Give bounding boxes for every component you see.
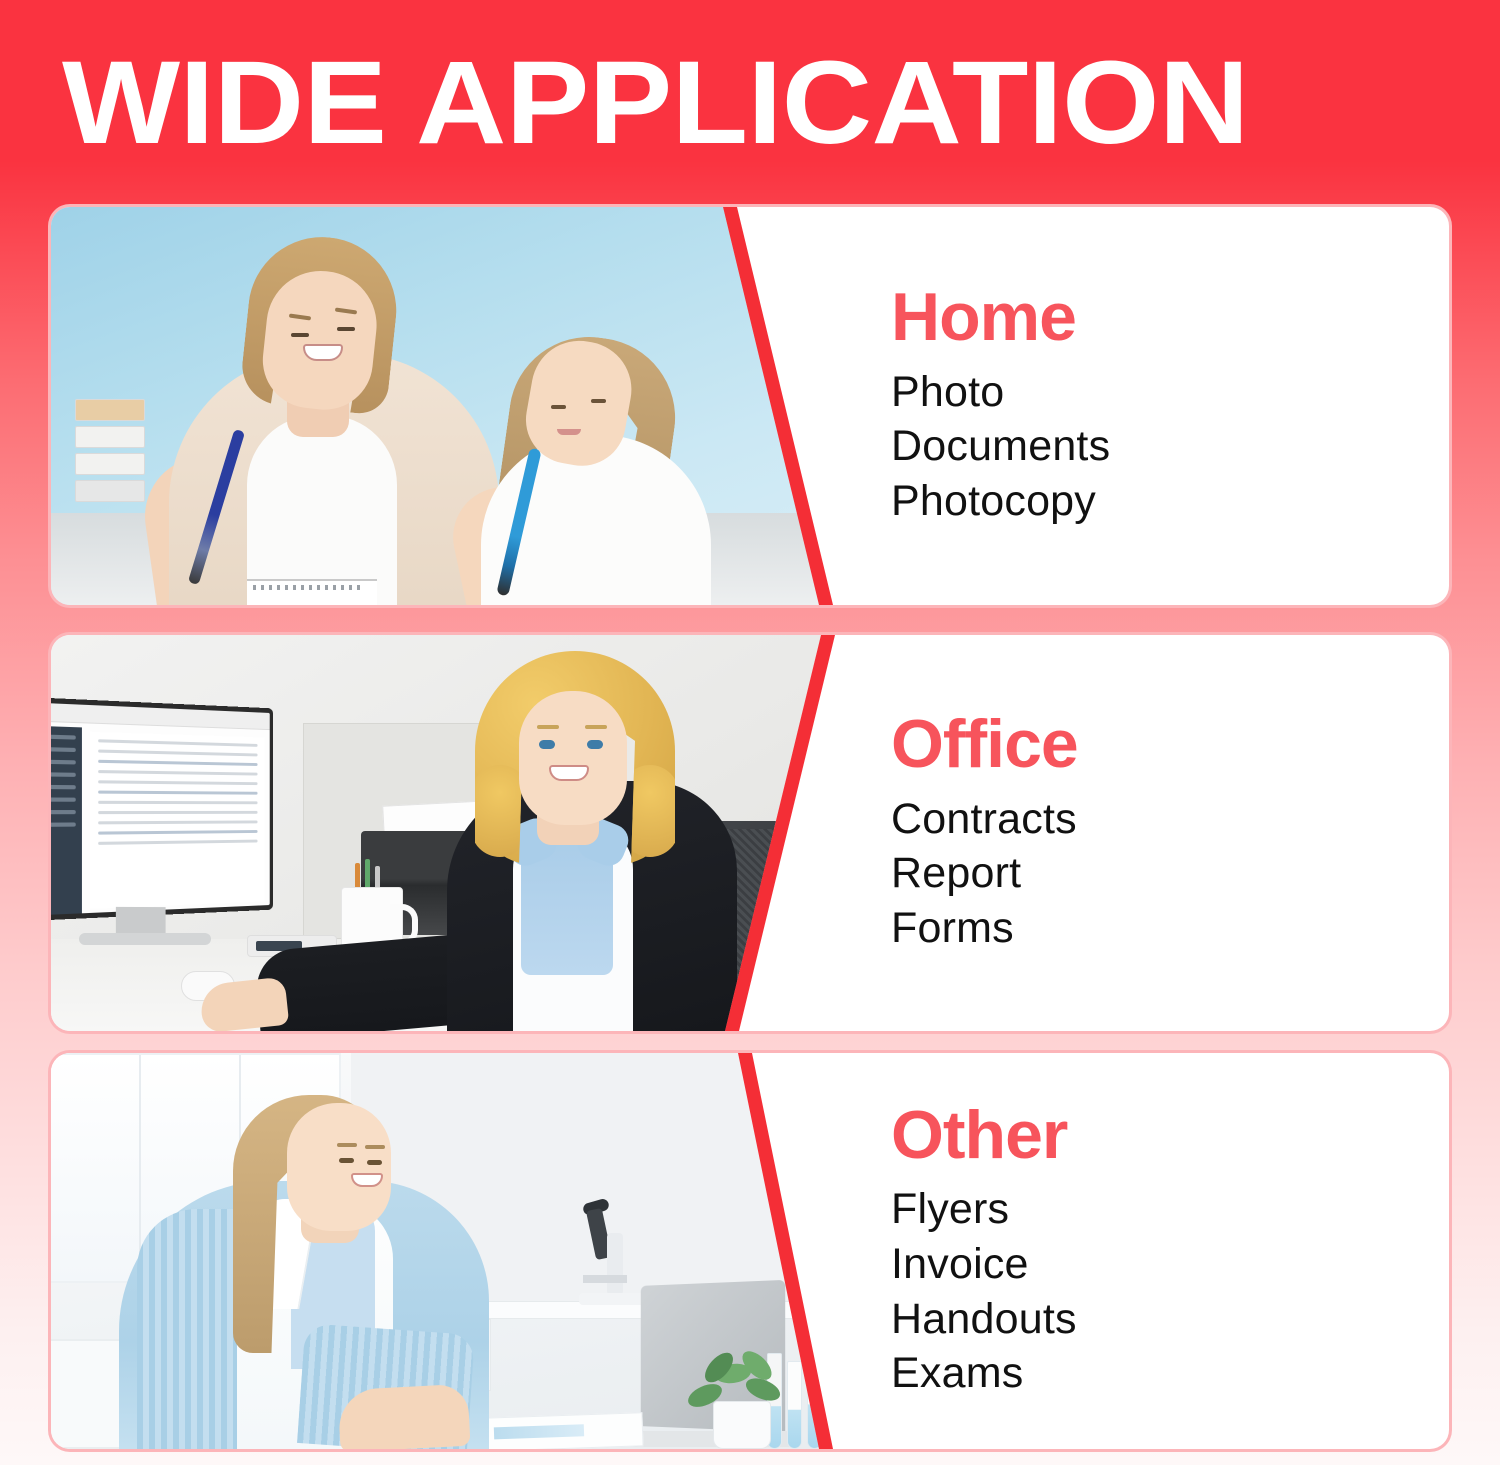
- lab-brow-right: [365, 1145, 385, 1149]
- page-title: WIDE APPLICATION: [62, 44, 1249, 162]
- card-list-office: Contracts Report Forms: [891, 792, 1449, 956]
- card-photo-home: [51, 207, 841, 605]
- card-photo-other: [51, 1053, 841, 1449]
- card-heading-other: Other: [891, 1101, 1449, 1170]
- card-text-other: Other Flyers Invoice Handouts Exams: [839, 1053, 1449, 1449]
- adult-shirt: [247, 415, 397, 605]
- office-brow-left: [537, 725, 559, 729]
- office-brow-right: [585, 725, 607, 729]
- list-item: Contracts: [891, 792, 1449, 847]
- photo-office-worker: [51, 635, 841, 1031]
- office-woman-bow-tie: [521, 827, 613, 975]
- office-eye-right: [587, 740, 603, 749]
- lab-woman-clasped-hands: [337, 1384, 470, 1449]
- photo-lab-worker: [51, 1053, 841, 1449]
- card-text-home: Home Photo Documents Photocopy: [839, 207, 1449, 605]
- child-eye-left: [551, 405, 566, 409]
- page-header: WIDE APPLICATION: [0, 0, 1500, 200]
- card-heading-office: Office: [891, 710, 1449, 779]
- lab-cardigan-ribbing-left: [137, 1209, 247, 1449]
- monitor-screen: [51, 702, 270, 915]
- child-mouth: [557, 429, 581, 435]
- adult-eye-right: [337, 327, 355, 331]
- lab-eye-right: [367, 1160, 382, 1165]
- screen-sidebar: [51, 726, 82, 916]
- notepad: [247, 579, 377, 605]
- list-item: Photocopy: [891, 474, 1449, 529]
- card-list-other: Flyers Invoice Handouts Exams: [891, 1182, 1449, 1400]
- potted-plant-leaves: [685, 1337, 797, 1411]
- application-card-other: Other Flyers Invoice Handouts Exams: [48, 1050, 1452, 1452]
- list-item: Flyers: [891, 1182, 1449, 1237]
- list-item: Invoice: [891, 1237, 1449, 1292]
- application-card-office: Office Contracts Report Forms: [48, 632, 1452, 1034]
- child-eye-right: [591, 399, 606, 403]
- adult-eye-left: [291, 333, 309, 337]
- screen-toolbar: [51, 702, 270, 730]
- card-text-office: Office Contracts Report Forms: [839, 635, 1449, 1031]
- list-item: Exams: [891, 1346, 1449, 1401]
- card-heading-home: Home: [891, 283, 1449, 352]
- lab-eye-left: [339, 1158, 354, 1163]
- card-photo-office: [51, 635, 841, 1031]
- lab-woman-smile: [351, 1173, 383, 1187]
- desktop-monitor: [51, 697, 273, 921]
- card-list-home: Photo Documents Photocopy: [891, 365, 1449, 529]
- list-item: Photo: [891, 365, 1449, 420]
- office-woman-smile: [549, 765, 589, 781]
- office-woman-head: [519, 691, 627, 825]
- lab-brow-left: [337, 1143, 357, 1147]
- adult-smile: [303, 344, 343, 361]
- home-books-stack: [75, 399, 145, 519]
- list-item: Documents: [891, 419, 1449, 474]
- list-item: Handouts: [891, 1292, 1449, 1347]
- screen-document: [90, 732, 264, 909]
- monitor-base: [79, 933, 211, 945]
- office-eye-left: [539, 740, 555, 749]
- plant-pot: [713, 1401, 771, 1449]
- lab-papers: [482, 1412, 643, 1449]
- lab-woman-head: [287, 1103, 391, 1231]
- list-item: Report: [891, 846, 1449, 901]
- list-item: Forms: [891, 901, 1449, 956]
- photo-home-tutoring: [51, 207, 841, 605]
- application-card-home: Home Photo Documents Photocopy: [48, 204, 1452, 608]
